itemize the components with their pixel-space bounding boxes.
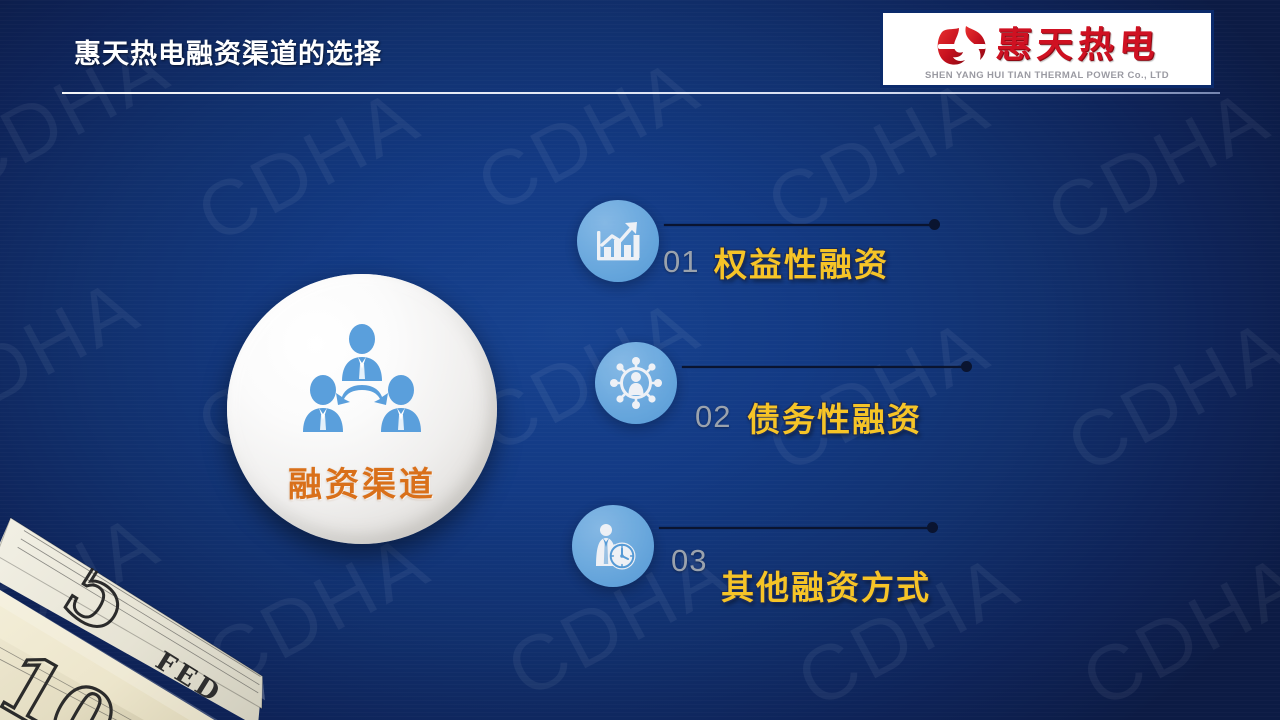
company-logo: 惠天热电 SHEN YANG HUI TIAN THERMAL POWER Co…: [880, 10, 1214, 88]
watermark-text: CDHA: [183, 70, 435, 262]
businessman-clock-icon: [587, 520, 639, 572]
item-connector-line: [682, 366, 964, 368]
item-number: 03: [671, 543, 707, 579]
us-dollar-bills-photo: 5 FED 10 JF: [0, 477, 269, 720]
watermark-text: CDHA: [0, 260, 155, 452]
logo-company-name-cn: 惠天热电: [995, 27, 1162, 63]
item-connector-dot: [929, 219, 940, 230]
list-item[interactable]: 01 权益性融资: [577, 200, 997, 300]
page-title: 惠天热电融资渠道的选择: [74, 32, 382, 71]
watermark-text: CDHA: [1053, 300, 1280, 492]
item-label: 其他融资方式: [721, 561, 931, 609]
svg-text:10: 10: [0, 632, 132, 720]
watermark-text: CDHA: [1068, 535, 1280, 720]
item-icon-badge[interactable]: [572, 505, 654, 587]
hub-label: 融资渠道: [288, 457, 436, 506]
hub-circle[interactable]: 融资渠道: [227, 274, 497, 544]
item-label: 债务性融资: [747, 393, 922, 441]
item-connector-line: [659, 527, 930, 529]
watermark-text: CDHA: [1033, 70, 1280, 262]
title-divider: [62, 92, 1220, 94]
svg-text:FED: FED: [150, 646, 228, 710]
watermark-text: CDHA: [0, 495, 175, 687]
item-number: 02: [695, 399, 731, 435]
logo-row: 惠天热电: [934, 17, 1160, 69]
item-connector-dot: [961, 361, 972, 372]
network-hub-person-icon: [610, 357, 662, 409]
logo-company-name-en: SHEN YANG HUI TIAN THERMAL POWER Co., LT…: [925, 70, 1169, 81]
item-connector-dot: [927, 522, 938, 533]
svg-text:5: 5: [47, 538, 151, 655]
item-label: 权益性融资: [714, 238, 889, 286]
item-connector-line: [664, 224, 932, 226]
slide-canvas: CDHA CDHA CDHA CDHA CDHA CDHA CDHA CDHA …: [0, 0, 1280, 720]
slide-header: 惠天热电融资渠道的选择 惠天热电: [0, 0, 1280, 96]
list-item[interactable]: 03 其他融资方式: [572, 505, 992, 615]
list-item[interactable]: 02 债务性融资: [595, 342, 1015, 452]
bar-chart-growth-icon: [592, 215, 644, 267]
team-network-icon: [298, 323, 426, 443]
item-icon-badge[interactable]: [577, 200, 659, 282]
item-icon-badge[interactable]: [595, 342, 677, 424]
watermark-text: CDHA: [193, 515, 445, 707]
item-number: 01: [663, 244, 699, 280]
hui-tian-flame-mark-icon: [934, 22, 990, 68]
